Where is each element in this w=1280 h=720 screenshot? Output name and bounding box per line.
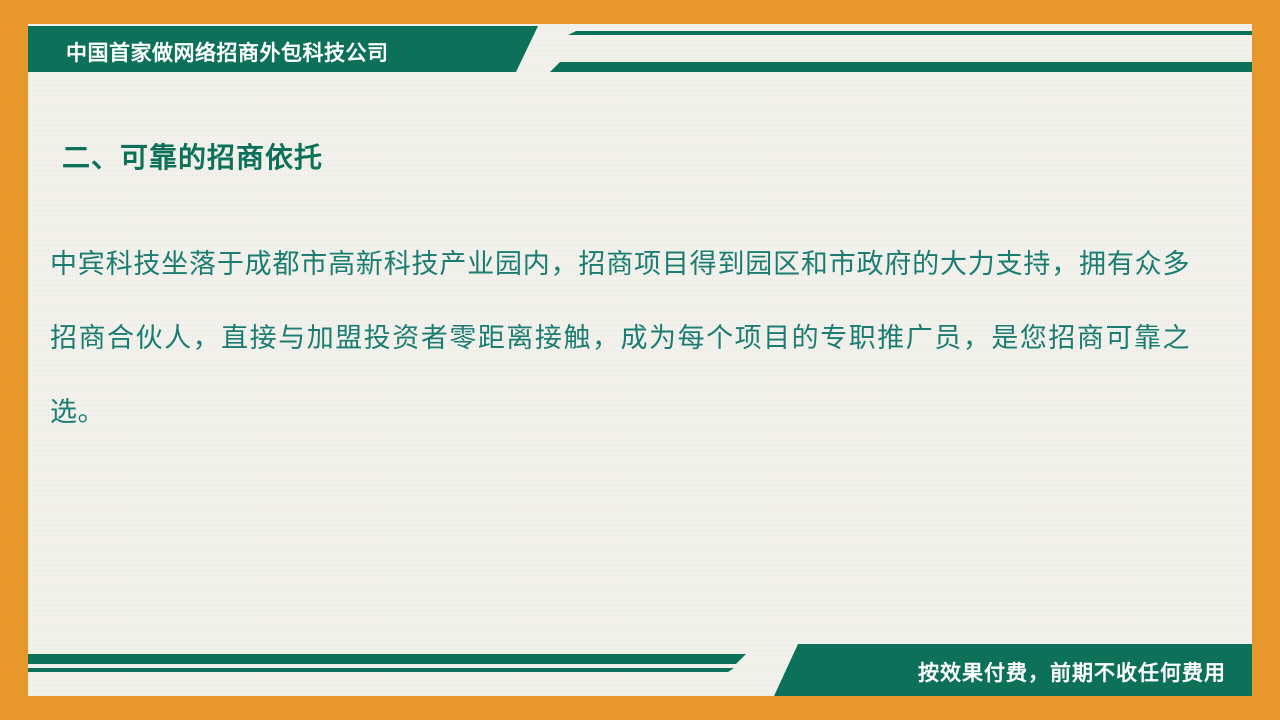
header-accent-line-top <box>568 31 1252 35</box>
header-bar: 中国首家做网络招商外包科技公司 <box>28 26 1252 72</box>
section-heading: 二、可靠的招商依托 <box>62 136 323 176</box>
body-paragraph: 中宾科技坐落于成都市高新科技产业园内，招商项目得到园区和市政府的大力支持，拥有众… <box>50 228 1190 450</box>
footer-accent-line-upper <box>28 654 746 664</box>
footer-slogan: 按效果付费，前期不收任何费用 <box>918 657 1226 687</box>
header-accent-line-bottom <box>550 62 1252 72</box>
header-title: 中国首家做网络招商外包科技公司 <box>66 37 389 67</box>
slide-root: 中国首家做网络招商外包科技公司 二、可靠的招商依托 中宾科技坐落于成都市高新科技… <box>0 0 1280 720</box>
footer-accent-line-lower <box>28 668 734 672</box>
footer-bar: 按效果付费，前期不收任何费用 <box>28 644 1252 696</box>
